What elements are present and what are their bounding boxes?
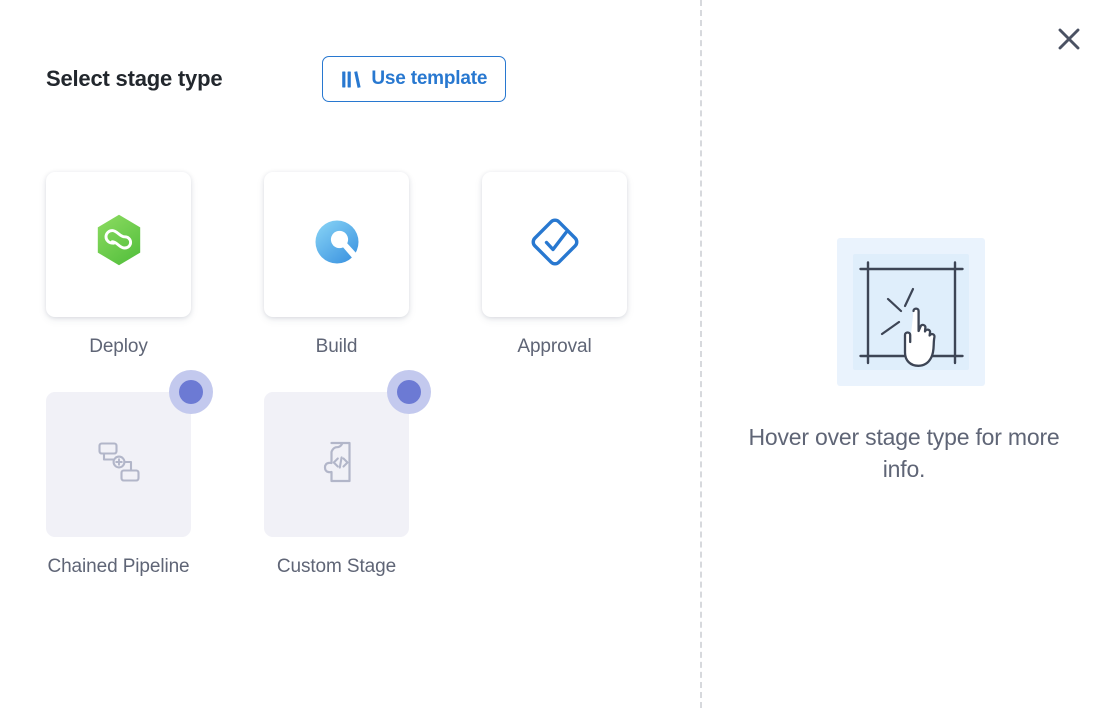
stage-type-tile-chained-pipeline[interactable]	[46, 392, 191, 537]
use-template-label: Use template	[371, 68, 487, 90]
select-stage-type-panel: Select stage type Use template	[0, 0, 1106, 708]
hexagon-infinity-icon	[93, 213, 145, 276]
hand-click-frame-illustration	[837, 238, 985, 386]
stage-type-label-deploy: Deploy	[89, 331, 148, 362]
stage-type-tile-wrap-approval	[482, 172, 627, 317]
pipeline-plus-icon	[95, 438, 143, 491]
stage-type-label-approval: Approval	[517, 331, 591, 362]
stage-type-label-chained-pipeline: Chained Pipeline	[47, 551, 189, 582]
stage-type-card-build: Build	[264, 172, 409, 362]
stage-type-card-custom-stage: Custom Stage	[264, 392, 409, 582]
stage-type-tile-wrap-build	[264, 172, 409, 317]
stage-type-tile-deploy[interactable]	[46, 172, 191, 317]
status-badge-custom-stage[interactable]	[387, 370, 431, 414]
stage-type-tile-wrap-custom-stage	[264, 392, 409, 537]
stage-type-label-custom-stage: Custom Stage	[277, 551, 396, 582]
stage-type-tile-wrap-chained-pipeline	[46, 392, 191, 537]
stage-type-grid: Deploy	[46, 172, 666, 582]
hover-info-message: Hover over stage type for more info.	[730, 421, 1078, 485]
puzzle-code-icon	[314, 438, 360, 491]
status-badge-chained-pipeline[interactable]	[169, 370, 213, 414]
stage-type-tile-wrap-deploy	[46, 172, 191, 317]
stage-type-tile-custom-stage[interactable]	[264, 392, 409, 537]
books-icon	[341, 70, 362, 89]
panel-header: Select stage type Use template	[46, 56, 506, 102]
stage-type-chooser: Select stage type Use template	[0, 0, 700, 708]
stage-type-tile-build[interactable]	[264, 172, 409, 317]
stage-type-card-chained-pipeline: Chained Pipeline	[46, 392, 191, 582]
diamond-check-icon	[527, 214, 583, 275]
stage-type-card-deploy: Deploy	[46, 172, 191, 362]
stage-type-label-build: Build	[316, 331, 358, 362]
stage-type-tile-approval[interactable]	[482, 172, 627, 317]
stage-info-panel: Hover over stage type for more info.	[702, 0, 1106, 708]
stage-type-card-approval: Approval	[482, 172, 627, 362]
page-title: Select stage type	[46, 66, 222, 92]
circle-magnifier-icon	[310, 215, 364, 274]
use-template-button[interactable]: Use template	[322, 56, 506, 102]
